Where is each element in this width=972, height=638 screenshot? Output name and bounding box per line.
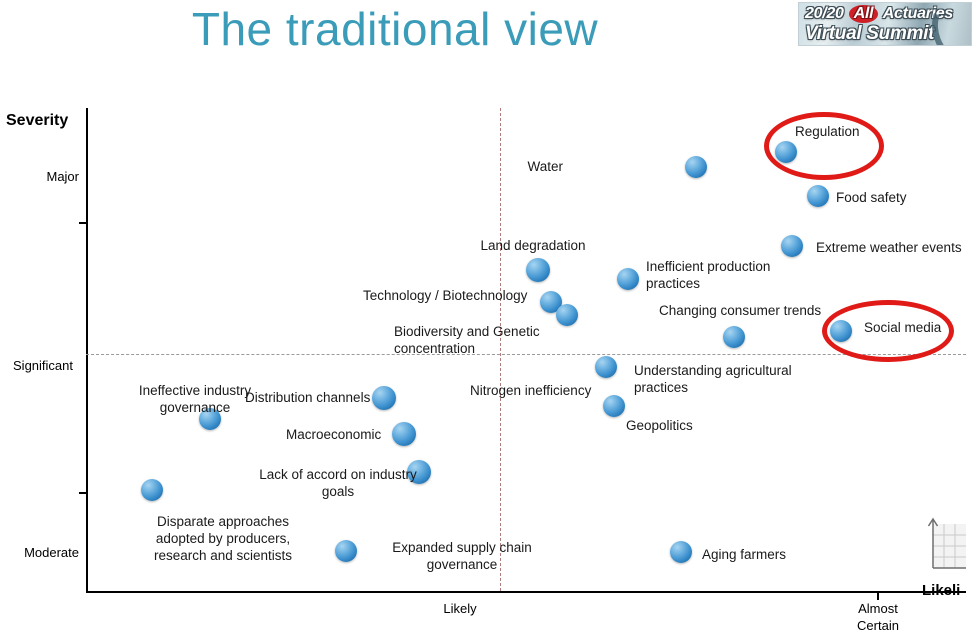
bubble-biodiversity-and-genetic-concentration[interactable]	[556, 304, 578, 326]
risk-label-inefficient-production-practices: Inefficient production practices	[646, 258, 770, 292]
risk-label-lack-of-accord-on-industry-goals: Lack of accord on industry goals	[243, 466, 433, 500]
risk-label-land-degradation: Land degradation	[438, 237, 628, 254]
x-axis-title: Likeli	[922, 582, 960, 599]
risk-label-macroeconomic: Macroeconomic	[286, 426, 381, 443]
bubble-extreme-weather-events[interactable]	[781, 235, 803, 257]
risk-label-water: Water	[423, 158, 563, 175]
bubble-food-safety[interactable]	[807, 185, 829, 207]
y-axis-tick-lower	[79, 492, 88, 494]
bubble-macroeconomic[interactable]	[392, 422, 416, 446]
highlight-ellipse-social-media	[822, 300, 954, 362]
x-tick-label-likely: Likely	[420, 600, 500, 617]
slide-canvas: The traditional view 20/20 All Actuaries…	[0, 0, 972, 638]
risk-label-changing-consumer-trends: Changing consumer trends	[659, 302, 821, 319]
logo-line-1: 20/20 All Actuaries	[805, 5, 953, 23]
bubble-distribution-channels[interactable]	[372, 386, 396, 410]
bubble-inefficient-production-practices[interactable]	[617, 268, 639, 290]
risk-label-aging-farmers: Aging farmers	[702, 546, 786, 563]
y-tick-label-major: Major	[9, 169, 79, 184]
bubble-nitrogen-inefficiency[interactable]	[603, 395, 625, 417]
page-title: The traditional view	[0, 2, 790, 56]
y-axis-title: Severity	[6, 112, 68, 130]
bubble-changing-consumer-trends[interactable]	[723, 326, 745, 348]
bubble-expanded-supply-chain-governance[interactable]	[335, 540, 357, 562]
logo-text-2020: 20/20	[805, 5, 848, 22]
risk-label-food-safety: Food safety	[836, 189, 907, 206]
bubble-aging-farmers[interactable]	[670, 541, 692, 563]
risk-label-biodiversity-and-genetic-concentration: Biodiversity and Genetic concentration	[394, 323, 540, 357]
spark-grid-icon	[922, 516, 968, 578]
x-tick-label-almost-certain: Almost Certain	[838, 600, 918, 634]
logo-badge-all: All	[849, 5, 879, 23]
y-axis-line	[86, 108, 88, 593]
risk-label-extreme-weather-events: Extreme weather events	[816, 239, 962, 256]
risk-label-expanded-supply-chain-governance: Expanded supply chain governance	[367, 539, 557, 573]
logo-line-2: Virtual Summit	[805, 23, 934, 45]
risk-label-disparate-approaches-adopted-by-producer: Disparate approaches adopted by producer…	[128, 513, 318, 564]
bubble-understanding-agricultural-practices[interactable]	[595, 356, 617, 378]
y-tick-label-moderate: Moderate	[9, 545, 79, 560]
bubble-water[interactable]	[685, 156, 707, 178]
x-axis-tick-almost-certain	[877, 591, 879, 600]
risk-label-nitrogen-inefficiency: Nitrogen inefficiency	[470, 382, 591, 399]
bubble-disparate-approaches-adopted-by-producer[interactable]	[141, 479, 163, 501]
risk-label-geopolitics: Geopolitics	[626, 417, 693, 434]
risk-label-ineffective-industry-governance: Ineffective industry governance	[100, 382, 290, 416]
bubble-land-degradation[interactable]	[526, 258, 550, 282]
highlight-ellipse-regulation	[764, 112, 884, 180]
x-axis-line	[86, 591, 966, 593]
summit-logo: 20/20 All Actuaries Virtual Summit	[798, 2, 972, 46]
y-tick-label-significant: Significant	[3, 358, 73, 373]
risk-label-understanding-agricultural-practices: Understanding agricultural practices	[634, 362, 792, 396]
risk-label-technology-biotechnology: Technology / Biotechnology	[363, 287, 527, 304]
y-axis-tick-major	[79, 222, 88, 224]
